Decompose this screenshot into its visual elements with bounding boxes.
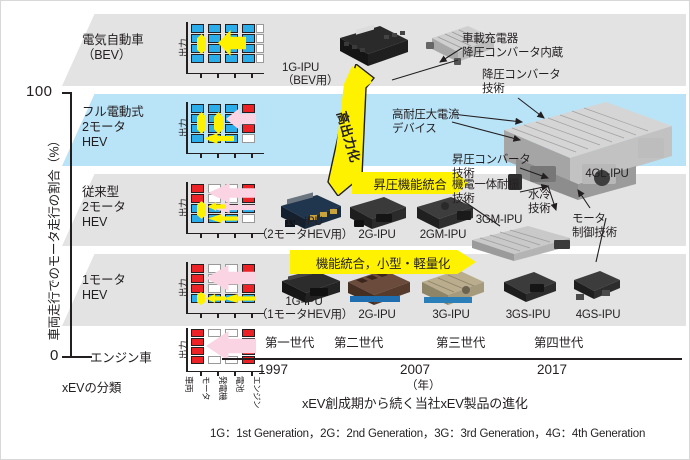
year-unit: （年） [406, 377, 441, 393]
figure-root: 電気自動車 （BEV） フル電動式 2モータ HEV 従来型 2モータ HEV … [0, 0, 690, 460]
year-2017: 2017 [537, 362, 567, 377]
figure-footnote: 1G：1st Generation，2G：2nd Generation，3G：3… [210, 425, 645, 441]
year-2007: 2007 [400, 362, 430, 377]
generation-label-3: 第三世代 [436, 332, 485, 351]
figure-caption: xEV創成期から続く当社xEV製品の進化 [302, 393, 528, 412]
timeline-axis [222, 358, 682, 360]
year-1997: 1997 [258, 362, 288, 377]
generation-label-2: 第二世代 [334, 332, 383, 351]
leader-lines [0, 0, 690, 460]
generation-label-4: 第四世代 [534, 332, 583, 351]
generation-label-1: 第一世代 [265, 332, 314, 351]
